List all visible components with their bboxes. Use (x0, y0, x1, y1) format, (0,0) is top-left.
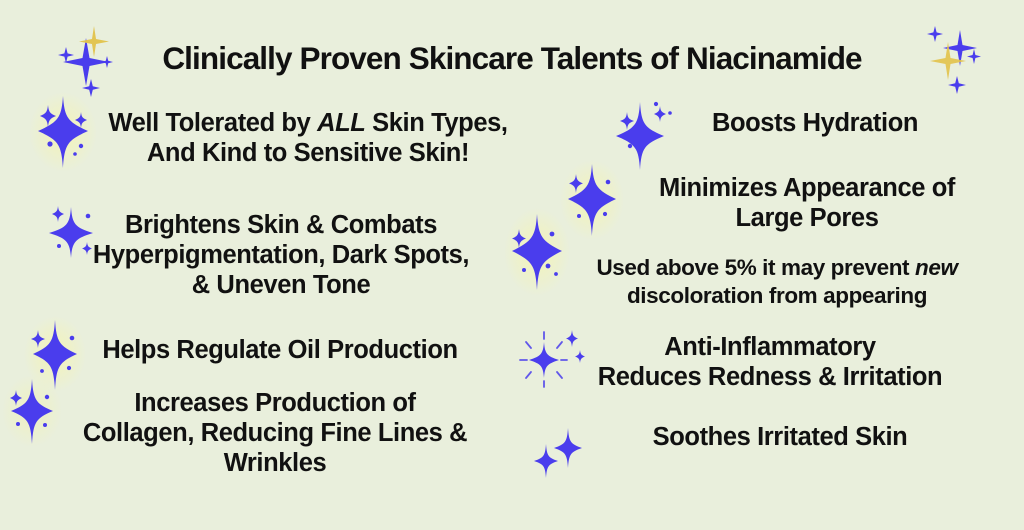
benefit-used-pre: Used above 5% it may prevent (596, 255, 915, 280)
benefit-brightens: Brightens Skin & Combats Hyperpigmentati… (26, 211, 536, 300)
benefit-hydration: Boosts Hydration (620, 109, 1010, 139)
benefit-tolerated-post: Skin Types, (365, 109, 507, 137)
benefit-collagen: Increases Production of Collagen, Reduci… (20, 389, 530, 478)
page-title: Clinically Proven Skincare Talents of Ni… (0, 41, 1024, 76)
benefit-tolerated-line2: And Kind to Sensitive Skin! (147, 139, 469, 167)
benefit-oil-regulation: Helps Regulate Oil Production (40, 336, 520, 366)
benefit-used-emphasis: new (915, 255, 958, 280)
benefit-anti-inflammatory: Anti-Inflammatory Reduces Redness & Irri… (520, 333, 1020, 393)
benefit-tolerated-emphasis: ALL (317, 109, 365, 137)
benefit-used-above-5-percent: Used above 5% it may prevent new discolo… (530, 254, 1024, 310)
benefit-tolerated-pre: Well Tolerated by (108, 109, 317, 137)
benefit-tolerated: Well Tolerated by ALL Skin Types,And Kin… (38, 109, 578, 169)
benefit-used-post: discoloration from appearing (627, 283, 927, 308)
benefit-soothes: Soothes Irritated Skin (560, 423, 1000, 453)
benefit-pores: Minimizes Appearance of Large Pores (592, 174, 1022, 234)
poster-canvas: Clinically Proven Skincare Talents of Ni… (0, 0, 1024, 530)
